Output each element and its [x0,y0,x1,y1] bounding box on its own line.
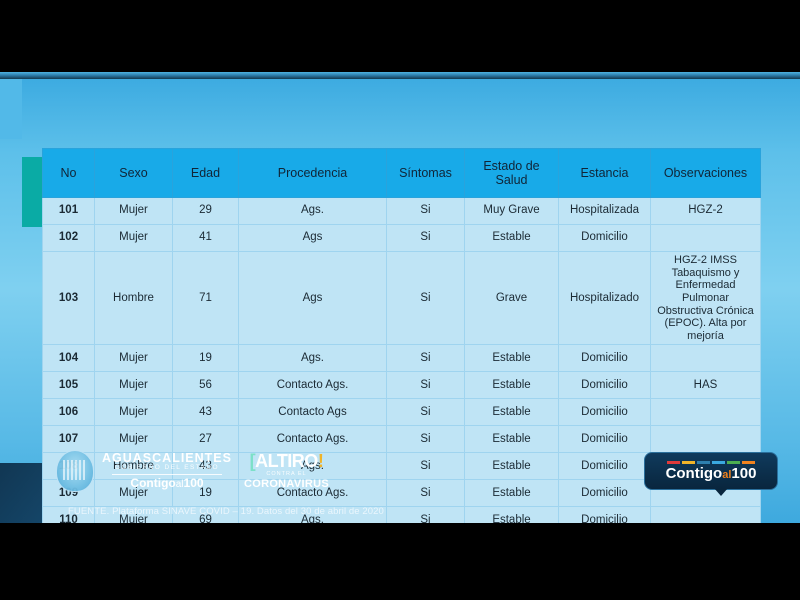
badge-color-bars [667,461,755,464]
cell-edad: 29 [173,198,239,225]
presentation-slide: CASOS POSITIVOS No Sexo Edad Procedencia… [0,72,800,523]
cell-sintomas: Si [387,480,465,507]
cell-sexo: Mujer [95,372,173,399]
bar-green [727,461,740,464]
cell-edad: 41 [173,225,239,252]
altiro-title: ALTIRO [246,452,328,470]
state-seal-icon [56,450,94,492]
cell-no: 104 [43,345,95,372]
cell-no: 102 [43,225,95,252]
cell-sintomas: Si [387,225,465,252]
cell-edad: 27 [173,426,239,453]
cell-estancia: Domicilio [559,225,651,252]
cell-edad: 43 [173,399,239,426]
cell-sintomas: Si [387,426,465,453]
cell-estado-salud: Estable [465,453,559,480]
cell-procedencia: Ags [239,225,387,252]
slogan-end: 100 [184,476,204,490]
cell-edad: 19 [173,345,239,372]
cell-estancia: Domicilio [559,399,651,426]
cell-estancia: Hospitalizado [559,252,651,345]
contigo-al-100-badge: Contigoal100 [644,452,778,490]
source-note: FUENTE. Plataforma SINAVE COVID – 19. Da… [68,506,384,517]
table-row: 103 Hombre 71 Ags Si Grave Hospitalizado… [43,252,761,345]
cell-edad: 56 [173,372,239,399]
cell-sintomas: Si [387,198,465,225]
bar-yellow [682,461,695,464]
cell-observaciones: HAS [651,372,761,399]
badge-text: Contigoal100 [666,466,757,481]
table-row: 107 Mujer 27 Contacto Ags. Si Estable Do… [43,426,761,453]
column-header-no: No [43,149,95,198]
cell-procedencia: Ags. [239,198,387,225]
bar-darkblue [697,461,710,464]
logo-group: AGUASCALIENTES GOBIERNO DEL ESTADO Conti… [56,450,329,492]
cell-estancia: Domicilio [559,480,651,507]
cell-observaciones [651,225,761,252]
cell-estancia: Domicilio [559,426,651,453]
cell-estancia: Domicilio [559,453,651,480]
government-subtitle: GOBIERNO DEL ESTADO [102,465,232,472]
column-header-observaciones: Observaciones [651,149,761,198]
table-head: No Sexo Edad Procedencia Síntomas Estado… [43,149,761,198]
cell-estancia: Hospitalizada [559,198,651,225]
cell-procedencia: Ags [239,252,387,345]
cell-estado-salud: Estable [465,480,559,507]
bar-blue [712,461,725,464]
cell-sintomas: Si [387,453,465,480]
table-row: 102 Mujer 41 Ags Si Estable Domicilio [43,225,761,252]
bar-red [667,461,680,464]
government-slogan: Contigoal100 [102,477,232,491]
cell-sexo: Mujer [95,345,173,372]
table-row: 105 Mujer 56 Contacto Ags. Si Estable Do… [43,372,761,399]
cell-sexo: Hombre [95,252,173,345]
cell-estado-salud: Estable [465,345,559,372]
table-row: 104 Mujer 19 Ags. Si Estable Domicilio [43,345,761,372]
cell-estancia: Domicilio [559,345,651,372]
cell-observaciones [651,426,761,453]
cell-no: 105 [43,372,95,399]
cell-sintomas: Si [387,399,465,426]
cell-procedencia: Contacto Ags [239,399,387,426]
cell-estado-salud: Estable [465,399,559,426]
bar-orange [742,461,755,464]
slogan-mid: al [176,479,184,490]
cell-sintomas: Si [387,372,465,399]
cell-estancia: Domicilio [559,372,651,399]
cell-sintomas: Si [387,252,465,345]
cell-estado-salud: Estable [465,426,559,453]
column-header-sexo: Sexo [95,149,173,198]
cell-estancia: Domicilio [559,507,651,523]
cell-sintomas: Si [387,345,465,372]
cell-estado-salud: Estable [465,225,559,252]
cell-sexo: Mujer [95,399,173,426]
cell-estado-salud: Grave [465,252,559,345]
cell-estado-salud: Estable [465,507,559,523]
column-header-edad: Edad [173,149,239,198]
column-header-estado-salud: Estado de Salud [465,149,559,198]
slide-top-strip [0,72,800,79]
government-logo: AGUASCALIENTES GOBIERNO DEL ESTADO Conti… [102,452,232,490]
column-header-estancia: Estancia [559,149,651,198]
badge-main: Contigo [666,465,723,482]
cell-sintomas: Si [387,507,465,523]
cell-observaciones: HGZ-2 IMSS Tabaquismo y Enfermedad Pulmo… [651,252,761,345]
cell-no: 107 [43,426,95,453]
altiro-subtitle: CONTRA EL [244,472,329,478]
table-row: 101 Mujer 29 Ags. Si Muy Grave Hospitali… [43,198,761,225]
cell-procedencia: Ags. [239,345,387,372]
screenshot-canvas: CASOS POSITIVOS No Sexo Edad Procedencia… [0,0,800,600]
cell-sexo: Mujer [95,198,173,225]
cell-observaciones [651,399,761,426]
cell-observaciones [651,507,761,523]
cell-no: 101 [43,198,95,225]
table-header-row: No Sexo Edad Procedencia Síntomas Estado… [43,149,761,198]
cell-sexo: Mujer [95,225,173,252]
cell-observaciones: HGZ-2 [651,198,761,225]
column-header-sintomas: Síntomas [387,149,465,198]
cell-no: 103 [43,252,95,345]
government-name: AGUASCALIENTES [102,452,232,465]
table-row: 106 Mujer 43 Contacto Ags Si Estable Dom… [43,399,761,426]
logo-divider [112,474,222,475]
cell-estado-salud: Estable [465,372,559,399]
cell-sexo: Mujer [95,426,173,453]
slogan-main: Contigo [130,476,175,490]
cell-estado-salud: Muy Grave [465,198,559,225]
cell-no: 106 [43,399,95,426]
cell-observaciones [651,345,761,372]
cell-procedencia: Contacto Ags. [239,426,387,453]
column-header-procedencia: Procedencia [239,149,387,198]
slide-left-notch [0,79,22,139]
altiro-coronavirus-label: CORONAVIRUS [244,479,329,490]
cell-procedencia: Contacto Ags. [239,372,387,399]
altiro-logo: ALTIRO CONTRA EL CORONAVIRUS [244,452,329,490]
cell-edad: 71 [173,252,239,345]
badge-end: 100 [731,465,756,482]
